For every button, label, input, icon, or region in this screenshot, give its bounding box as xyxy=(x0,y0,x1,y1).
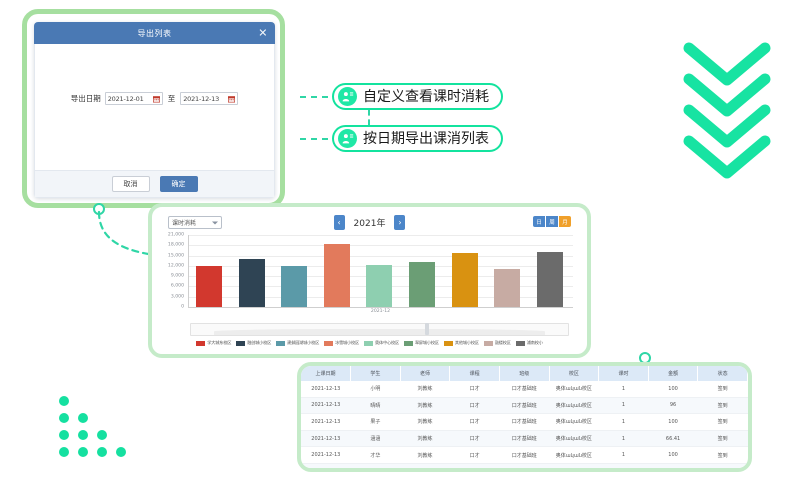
callout-label: 按日期导出课消列表 xyxy=(363,132,489,146)
table-cell: 奥体ական校区 xyxy=(549,381,599,397)
bar[interactable] xyxy=(537,252,563,307)
table-cell: 100 xyxy=(648,463,698,472)
table-cell: 66.41 xyxy=(648,430,698,447)
date-to-input[interactable]: 2021-12-13 xyxy=(180,92,238,105)
person-chart-icon xyxy=(338,87,357,106)
table-row[interactable]: 2021-12-13涵涵刘教练口才口才基础班奥体ական校区166.41签到 xyxy=(301,430,748,447)
chart-panel-frame: 课时消耗 ‹ 2021年 › 日 周 月 03,0006,0009,00012,… xyxy=(148,203,591,358)
table-cell: 签到 xyxy=(698,414,748,431)
table-cell: 100 xyxy=(648,381,698,397)
table-cell: 口才基础班 xyxy=(499,381,549,397)
chevron-decoration-group xyxy=(683,42,775,182)
legend-label: 翠屏城小校区 xyxy=(415,340,439,346)
calendar-icon[interactable] xyxy=(153,95,160,102)
bar[interactable] xyxy=(409,262,435,307)
slider-preview xyxy=(214,329,546,335)
table-cell: 2021-12-13 xyxy=(301,397,351,414)
table-row[interactable]: 2021-12-13俊彤刘教练口才口才基础班奥体ական校区1100签到 xyxy=(301,463,748,472)
chart-panel: 课时消耗 ‹ 2021年 › 日 周 月 03,0006,0009,00012,… xyxy=(156,211,583,350)
screenshot-stage: 导出列表 ✕ 导出日期 2021-12-01 xyxy=(0,0,800,500)
table-cell: 奥体ական校区 xyxy=(549,430,599,447)
date-range-label: 导出日期 xyxy=(71,93,101,104)
legend-item[interactable]: 鼓楼校区 xyxy=(484,340,511,346)
bar[interactable] xyxy=(366,265,392,308)
table-cell: 2021-12-13 xyxy=(301,430,351,447)
legend-swatch xyxy=(196,341,205,346)
table-cell: 1 xyxy=(599,414,649,431)
table-column-header: 课程 xyxy=(450,366,500,381)
legend-label: 建邺园湖城小校区 xyxy=(287,340,319,346)
table-cell: 奥体ական校区 xyxy=(549,397,599,414)
dialog-title: 导出列表 xyxy=(138,28,172,39)
table-cell: 小明 xyxy=(351,381,401,397)
table-cell: 才华 xyxy=(351,447,401,464)
table-column-header: 老师 xyxy=(400,366,450,381)
year-label: 2021年 xyxy=(354,216,386,229)
table-column-header: 班级 xyxy=(499,366,549,381)
table-column-header: 上课日期 xyxy=(301,366,351,381)
table-row[interactable]: 2021-12-13小明刘教练口才口才基础班奥体ական校区1100签到 xyxy=(301,381,748,397)
bar[interactable] xyxy=(494,269,520,307)
table-cell: 涵涵 xyxy=(351,430,401,447)
y-tick-label: 12,000 xyxy=(168,263,184,268)
legend-swatch xyxy=(364,341,373,346)
legend-item[interactable]: 翠屏城小校区 xyxy=(404,340,439,346)
chart-toolbar: 课时消耗 ‹ 2021年 › 日 周 月 xyxy=(156,211,583,235)
person-chart-icon xyxy=(338,129,357,148)
table-cell: 签到 xyxy=(698,397,748,414)
x-axis-line xyxy=(188,307,573,308)
table-row[interactable]: 2021-12-13晴晴刘教练口才口才基础班奥体ական校区196签到 xyxy=(301,397,748,414)
legend-label: 融创城小校区 xyxy=(247,340,271,346)
table-cell: 奥体ական校区 xyxy=(549,463,599,472)
dot-grid-decoration xyxy=(45,396,123,456)
table-cell: 1 xyxy=(599,447,649,464)
table-column-header: 金额 xyxy=(648,366,698,381)
table-cell: 签到 xyxy=(698,430,748,447)
cancel-button[interactable]: 取消 xyxy=(112,176,150,192)
table-cell: 口才 xyxy=(450,397,500,414)
callout-label: 自定义查看课时消耗 xyxy=(363,90,489,104)
y-tick-label: 15,000 xyxy=(168,253,184,258)
table-cell: 96 xyxy=(648,397,698,414)
table-cell: 口才 xyxy=(450,463,500,472)
callout-leader-line xyxy=(300,138,328,140)
y-tick-label: 0 xyxy=(181,305,184,310)
table-cell: 口才基础班 xyxy=(499,447,549,464)
legend-label: 学大城东校区 xyxy=(207,340,231,346)
x-axis-label: 2021-12 xyxy=(188,309,573,314)
table-cell: 刘教练 xyxy=(400,397,450,414)
table-cell: 口才 xyxy=(450,430,500,447)
table-cell: 口才基础班 xyxy=(499,463,549,472)
callout-leader-line xyxy=(300,96,328,98)
table-cell: 2021-12-13 xyxy=(301,381,351,397)
legend-item[interactable]: 其他城小校区 xyxy=(444,340,479,346)
y-tick-label: 21,000 xyxy=(168,233,184,238)
table-column-header: 校区 xyxy=(549,366,599,381)
legend-label: 奥体中心校区 xyxy=(375,340,399,346)
legend-item[interactable]: 学大城东校区 xyxy=(196,340,231,346)
legend-label: 冰雪城小校区 xyxy=(335,340,359,346)
legend-item[interactable]: 融创城小校区 xyxy=(236,340,271,346)
table-cell: 100 xyxy=(648,414,698,431)
callout-connector-line xyxy=(368,110,370,125)
table-column-header: 课时 xyxy=(599,366,649,381)
bar[interactable] xyxy=(239,259,265,307)
table-cell: 刘教练 xyxy=(400,414,450,431)
table-row[interactable]: 2021-12-13果子刘教练口才口才基础班奥体ական校区1100签到 xyxy=(301,414,748,431)
legend-item[interactable]: 冰雪城小校区 xyxy=(324,340,359,346)
legend-item[interactable]: 浦南校小 xyxy=(516,340,543,346)
table-column-header: 学生 xyxy=(351,366,401,381)
bar[interactable] xyxy=(281,266,307,307)
table-cell: 签到 xyxy=(698,447,748,464)
table-cell: 口才 xyxy=(450,447,500,464)
date-range-row: 导出日期 2021-12-01 至 2021-12-13 xyxy=(35,92,274,105)
table-cell: 奥体ական校区 xyxy=(549,414,599,431)
table-cell: 100 xyxy=(648,447,698,464)
date-range-separator: 至 xyxy=(168,93,176,104)
table-header-row: 上课日期学生老师课程班级校区课时金额状态 xyxy=(301,366,748,381)
legend-swatch xyxy=(324,341,333,346)
table-body: 2021-12-13小明刘教练口才口才基础班奥体ական校区1100签到2021… xyxy=(301,381,748,472)
legend-label: 鼓楼校区 xyxy=(495,340,511,346)
bar-series xyxy=(188,235,571,307)
table-cell: 果子 xyxy=(351,414,401,431)
toggle-day[interactable]: 日 xyxy=(533,216,546,227)
date-from-input[interactable]: 2021-12-01 xyxy=(105,92,163,105)
legend-item[interactable]: 建邺园湖城小校区 xyxy=(276,340,319,346)
confirm-button[interactable]: 确定 xyxy=(160,176,198,192)
table-cell: 俊彤 xyxy=(351,463,401,472)
table-cell: 刘教练 xyxy=(400,447,450,464)
date-from-value: 2021-12-01 xyxy=(108,95,144,103)
table-cell: 刘教练 xyxy=(400,381,450,397)
period-toggle-group: 日 周 月 xyxy=(533,216,571,227)
table-cell: 奥体ական校区 xyxy=(549,447,599,464)
table-cell: 刘教练 xyxy=(400,430,450,447)
lesson-table: 上课日期学生老师课程班级校区课时金额状态 2021-12-13小明刘教练口才口才… xyxy=(301,366,748,472)
legend-item[interactable]: 奥体中心校区 xyxy=(364,340,399,346)
legend-swatch xyxy=(484,341,493,346)
table-cell: 1 xyxy=(599,430,649,447)
callout-pill-export-by-date[interactable]: 按日期导出课消列表 xyxy=(332,125,503,152)
table-cell: 晴晴 xyxy=(351,397,401,414)
table-cell: 口才基础班 xyxy=(499,397,549,414)
legend-swatch xyxy=(236,341,245,346)
table-cell: 1 xyxy=(599,381,649,397)
toggle-month[interactable]: 月 xyxy=(559,216,571,227)
table-cell: 签到 xyxy=(698,463,748,472)
y-tick-label: 3,000 xyxy=(171,294,184,299)
dialog-title-bar: 导出列表 ✕ xyxy=(34,22,275,44)
lesson-table-panel: 上课日期学生老师课程班级校区课时金额状态 2021-12-13小明刘教练口才口才… xyxy=(297,362,752,472)
table-cell: 1 xyxy=(599,463,649,472)
table-column-header: 状态 xyxy=(698,366,748,381)
table-cell: 口才基础班 xyxy=(499,430,549,447)
bar[interactable] xyxy=(196,266,222,307)
bar[interactable] xyxy=(452,253,478,308)
chart-range-slider[interactable] xyxy=(190,323,569,336)
legend-swatch xyxy=(444,341,453,346)
y-tick-label: 6,000 xyxy=(171,284,184,289)
bar-chart: 03,0006,0009,00012,00015,00018,00021,000… xyxy=(160,235,573,319)
y-tick-label: 18,000 xyxy=(168,243,184,248)
dialog-footer: 取消 确定 xyxy=(34,170,275,198)
y-axis-labels: 03,0006,0009,00012,00015,00018,00021,000 xyxy=(160,235,186,307)
legend-swatch xyxy=(404,341,413,346)
next-year-button[interactable]: › xyxy=(394,215,405,230)
y-tick-label: 9,000 xyxy=(171,274,184,279)
slider-handle[interactable] xyxy=(425,323,429,335)
table-cell: 口才基础班 xyxy=(499,414,549,431)
date-to-value: 2021-12-13 xyxy=(183,95,219,103)
prev-year-button[interactable]: ‹ xyxy=(334,215,345,230)
legend-label: 浦南校小 xyxy=(527,340,543,346)
chevron-down-icon xyxy=(683,135,771,181)
table-row[interactable]: 2021-12-13才华刘教练口才口才基础班奥体ական校区1100签到 xyxy=(301,447,748,464)
table-cell: 2021-12-13 xyxy=(301,463,351,472)
legend-label: 其他城小校区 xyxy=(455,340,479,346)
table-cell: 2021-12-13 xyxy=(301,447,351,464)
table-cell: 1 xyxy=(599,397,649,414)
export-dialog-frame: 导出列表 ✕ 导出日期 2021-12-01 xyxy=(22,9,285,208)
table-cell: 口才 xyxy=(450,414,500,431)
table-cell: 口才 xyxy=(450,381,500,397)
close-icon[interactable]: ✕ xyxy=(258,28,268,39)
legend-swatch xyxy=(516,341,525,346)
legend-swatch xyxy=(276,341,285,346)
chart-legend: 学大城东校区融创城小校区建邺园湖城小校区冰雪城小校区奥体中心校区翠屏城小校区其他… xyxy=(156,340,583,346)
table-cell: 刘教练 xyxy=(400,463,450,472)
table-cell: 签到 xyxy=(698,381,748,397)
bar[interactable] xyxy=(324,244,350,307)
table-head: 上课日期学生老师课程班级校区课时金额状态 xyxy=(301,366,748,381)
dialog-body: 导出日期 2021-12-01 至 2021-12-13 xyxy=(34,44,275,170)
export-dialog: 导出列表 ✕ 导出日期 2021-12-01 xyxy=(34,22,275,198)
toggle-week[interactable]: 周 xyxy=(546,216,559,227)
table-cell: 2021-12-13 xyxy=(301,414,351,431)
year-navigator: ‹ 2021年 › xyxy=(156,215,583,230)
calendar-icon[interactable] xyxy=(228,95,235,102)
callout-pill-custom-view[interactable]: 自定义查看课时消耗 xyxy=(332,83,503,110)
